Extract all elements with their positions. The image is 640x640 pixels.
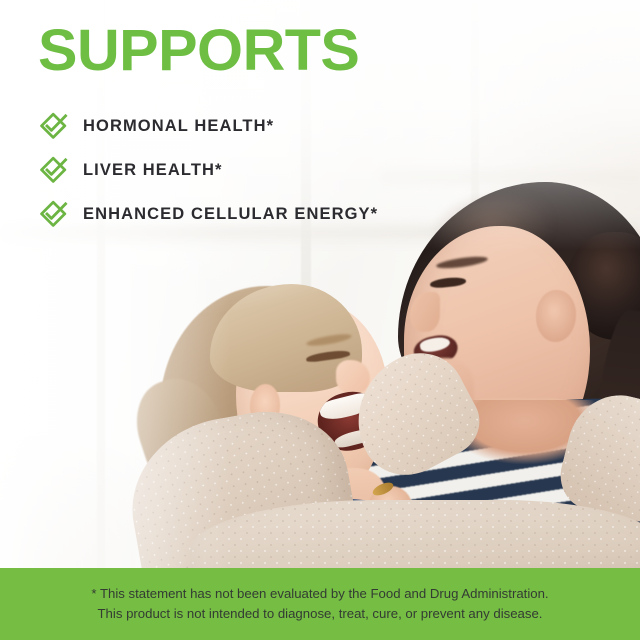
check-diamond-icon	[38, 199, 68, 229]
child-nose	[336, 360, 370, 394]
page-title: SUPPORTS	[38, 22, 359, 80]
benefit-item-enhanced-cellular-energy: ENHANCED CELLULAR ENERGY*	[38, 192, 558, 236]
lifestyle-photo	[0, 0, 640, 572]
check-diamond-icon	[38, 155, 68, 185]
benefit-item-hormonal-health: HORMONAL HEALTH*	[38, 104, 558, 148]
knit-blanket-bottom	[190, 500, 640, 572]
benefit-label: LIVER HEALTH*	[83, 161, 223, 180]
disclaimer-footer: * This statement has not been evaluated …	[0, 568, 640, 640]
check-diamond-icon	[38, 111, 68, 141]
product-benefits-panel: SUPPORTS HORMONAL HEALTH* LIVER HEALTH* …	[0, 0, 640, 640]
mother-nose	[410, 292, 440, 332]
benefit-label: HORMONAL HEALTH*	[83, 117, 274, 136]
disclaimer-text: * This statement has not been evaluated …	[67, 584, 572, 625]
benefit-item-liver-health: LIVER HEALTH*	[38, 148, 558, 192]
benefits-list: HORMONAL HEALTH* LIVER HEALTH* ENHANCED …	[38, 104, 558, 236]
benefit-label: ENHANCED CELLULAR ENERGY*	[83, 205, 378, 224]
disclaimer-line-1: * This statement has not been evaluated …	[91, 584, 548, 604]
disclaimer-line-2: This product is not intended to diagnose…	[91, 604, 548, 624]
